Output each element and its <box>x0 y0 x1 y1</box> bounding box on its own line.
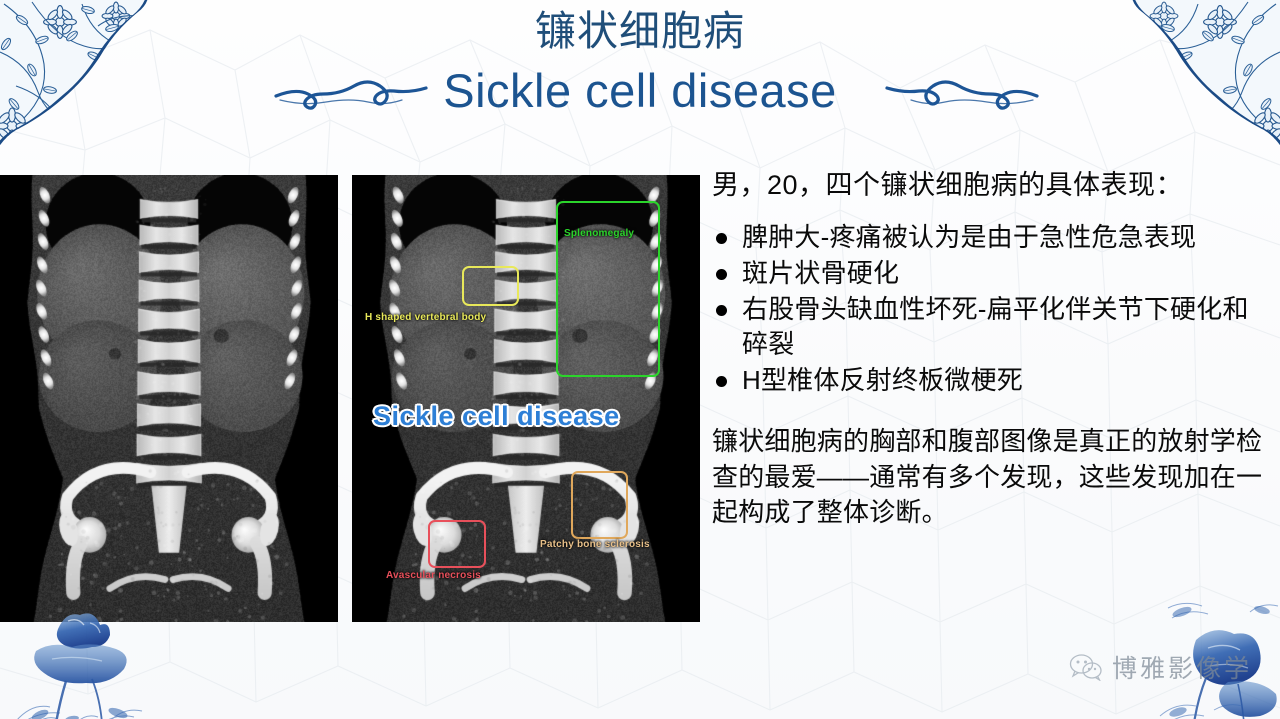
page-title-english: Sickle cell disease <box>0 62 1280 120</box>
annotation-box-avascular-necrosis <box>428 520 486 568</box>
annotation-box-patchy-bone-sclerosis <box>571 471 628 539</box>
list-item: 脾肿大-疼痛被认为是由于急性危急表现 <box>712 220 1268 255</box>
annotation-label-avascular-necrosis: Avascular necrosis <box>383 569 484 583</box>
wechat-icon <box>1069 653 1103 681</box>
list-item: H型椎体反射终板微梗死 <box>712 363 1268 398</box>
slide-root: 镰状细胞病 Sickle cell disease Splenomegaly H… <box>0 0 1280 719</box>
content-text-column: 男，20，四个镰状细胞病的具体表现： 脾肿大-疼痛被认为是由于急性危急表现 斑片… <box>712 168 1268 531</box>
list-item: 斑片状骨硬化 <box>712 256 1268 291</box>
patient-summary-line: 男，20，四个镰状细胞病的具体表现： <box>712 168 1268 202</box>
channel-watermark: 博雅影像学 <box>1069 649 1252 685</box>
slide-title-block: 镰状细胞病 Sickle cell disease <box>0 0 1280 140</box>
annotation-box-h-shaped-vertebral-body <box>462 266 519 306</box>
channel-watermark-text: 博雅影像学 <box>1112 649 1252 685</box>
findings-bullet-list: 脾肿大-疼痛被认为是由于急性危急表现 斑片状骨硬化 右股骨头缺血性坏死-扁平化伴… <box>712 220 1268 398</box>
annotation-label-h-shaped-vertebral-body: H shaped vertebral body <box>362 311 489 325</box>
swirl-flourish-left-icon <box>268 72 443 116</box>
ct-image-right-annotated: Splenomegaly H shaped vertebral body Ava… <box>352 175 700 622</box>
ct-image-left-unannotated <box>0 175 338 622</box>
swirl-flourish-right-icon <box>870 72 1045 116</box>
annotation-label-splenomegaly: Splenomegaly <box>561 227 637 241</box>
list-item: 右股骨头缺血性坏死-扁平化伴关节下硬化和碎裂 <box>712 292 1268 362</box>
closing-paragraph: 镰状细胞病的胸部和腹部图像是真正的放射学检查的最爱——通常有多个发现，这些发现加… <box>712 424 1268 531</box>
ct-overlay-watermark-text: Sickle cell disease <box>373 401 620 432</box>
annotation-label-patchy-bone-sclerosis: Patchy bone sclerosis <box>537 538 653 552</box>
page-title-chinese: 镰状细胞病 <box>0 6 1280 56</box>
